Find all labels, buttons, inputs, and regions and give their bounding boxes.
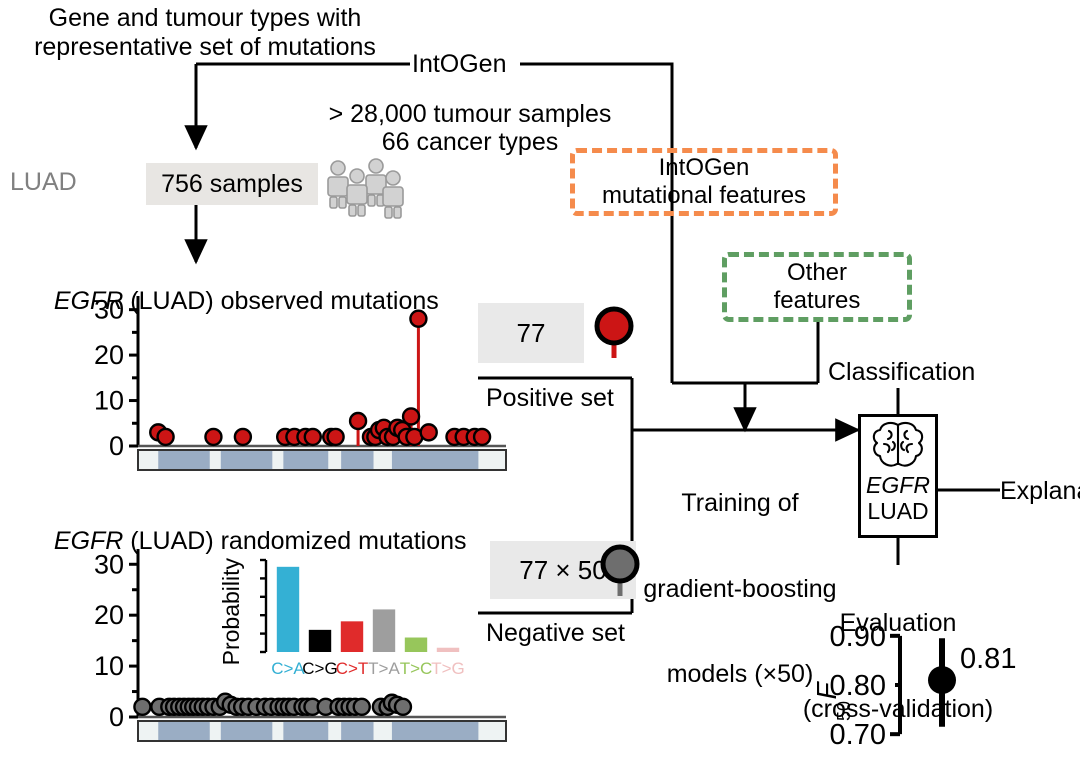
svg-text:T>C: T>C (400, 659, 433, 678)
model-tumour-label: LUAD (867, 498, 928, 524)
positive-lollipop-icon (594, 304, 634, 362)
svg-text:F: F (811, 681, 842, 700)
explanation-label: Explanation (1000, 477, 1080, 506)
samples-chip-label: 756 samples (161, 170, 303, 199)
tumour-type-label: LUAD (10, 168, 77, 197)
intogen-features-box[interactable]: IntOGen mutational features (570, 148, 838, 216)
intogen-features-line2: mutational features (602, 182, 806, 210)
svg-text:0.70: 0.70 (830, 719, 886, 751)
brain-icon (870, 420, 926, 472)
svg-text:10: 10 (94, 651, 124, 681)
svg-text:0: 0 (109, 431, 124, 461)
cohort-samples-line: > 28,000 tumour samples (300, 100, 640, 129)
svg-text:30: 30 (94, 295, 124, 325)
figure-title: Gene and tumour types with representativ… (10, 4, 400, 61)
negative-lollipop-icon (600, 542, 640, 600)
model-gene-label: EGFR (866, 472, 930, 498)
svg-text:30: 30 (94, 549, 124, 579)
mutational-probability-inset: C>AC>GC>TT>AT>CT>G (248, 556, 466, 684)
svg-text:20: 20 (94, 600, 124, 630)
other-features-line2: features (774, 287, 861, 315)
svg-text:10: 10 (94, 386, 124, 416)
svg-text:C>A: C>A (271, 659, 305, 678)
svg-text:0.81: 0.81 (960, 643, 1016, 675)
intogen-features-line1: IntOGen (602, 154, 806, 182)
positive-set-chip-label: 77 (517, 318, 546, 349)
other-features-line1: Other (774, 259, 861, 287)
svg-text:0.90: 0.90 (830, 621, 886, 653)
people-group-icon (324, 158, 416, 214)
probability-axis-label: Probability (218, 558, 244, 665)
training-line1: Training of (640, 489, 840, 518)
other-features-box[interactable]: Other features (722, 252, 912, 322)
observed-mutations-lollipop: 0102030 (14, 292, 514, 484)
positive-set-chip: 77 (478, 303, 584, 363)
positive-set-label: Positive set (486, 384, 614, 413)
svg-text:C>G: C>G (302, 659, 337, 678)
samples-chip: 756 samples (146, 163, 318, 205)
f50-evaluation-errorbar: 0.700.800.90F500.81 (828, 612, 1018, 764)
svg-text:20: 20 (94, 340, 124, 370)
negative-set-label: Negative set (486, 619, 625, 648)
intogen-label: IntOGen (412, 50, 507, 79)
svg-text:0: 0 (109, 702, 124, 732)
negative-set-chip-label: 77 × 50 (519, 555, 606, 586)
svg-text:50: 50 (834, 701, 854, 721)
svg-text:T>G: T>G (431, 659, 465, 678)
model-box[interactable]: EGFR LUAD (858, 414, 938, 538)
classification-label: Classification (828, 358, 975, 387)
svg-text:T>A: T>A (368, 659, 400, 678)
svg-text:C>T: C>T (336, 659, 369, 678)
